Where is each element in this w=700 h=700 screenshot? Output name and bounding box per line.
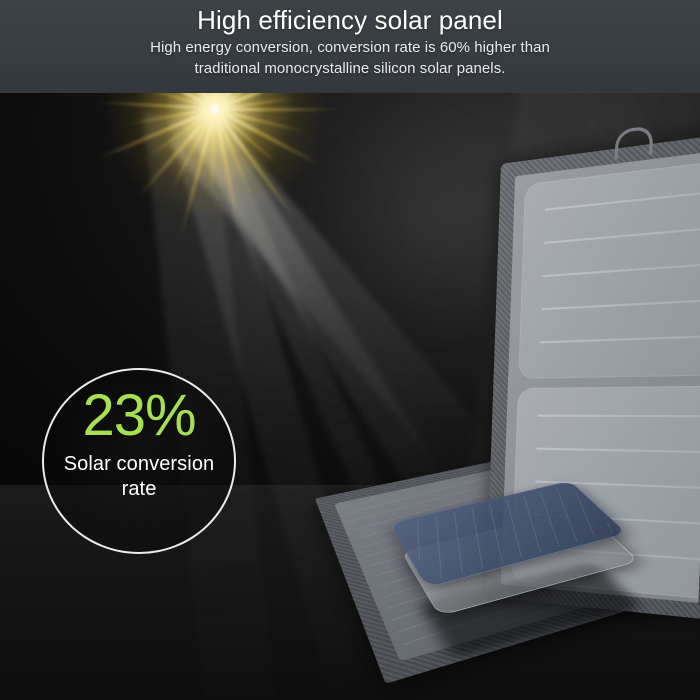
banner-header: High efficiency solar panel High energy … (0, 0, 700, 93)
sun-burst-icon (215, 109, 217, 111)
product-banner: High efficiency solar panel High energy … (0, 0, 700, 700)
badge-label-line-2: rate (122, 478, 157, 500)
subtitle-line-1: High energy conversion, conversion rate … (0, 37, 700, 58)
badge-value: 23% (44, 384, 234, 448)
page-title: High efficiency solar panel (0, 0, 700, 37)
badge-label: Solar conversion rate (40, 452, 238, 502)
subtitle-line-2: traditional monocrystalline silicon sola… (0, 58, 700, 79)
conversion-rate-badge: 23% Solar conversion rate (42, 368, 236, 554)
badge-label-line-1: Solar conversion (64, 453, 215, 475)
solar-cell (518, 153, 700, 379)
product-scene: 23% Solar conversion rate (0, 93, 700, 700)
